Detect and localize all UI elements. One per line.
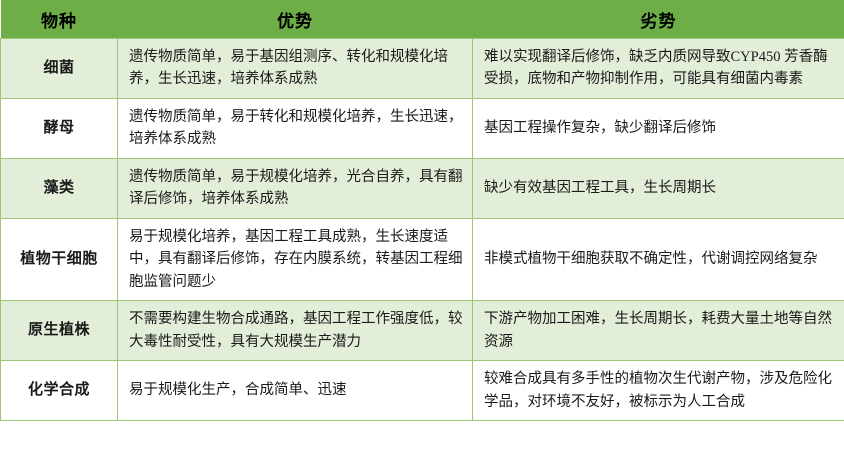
column-header-species: 物种 [1, 0, 118, 39]
table-row: 植物干细胞易于规模化培养，基因工程工具成熟，生长速度适中，具有翻译后修饰，存在内… [1, 218, 844, 300]
column-header-advantage: 优势 [118, 0, 473, 39]
cell-species: 细菌 [1, 39, 118, 99]
cell-disadvantage: 下游产物加工困难，生长周期长，耗费大量土地等自然资源 [473, 301, 844, 361]
cell-species: 藻类 [1, 158, 118, 218]
table-row: 原生植株不需要构建生物合成通路，基因工程工作强度低，较大毒性耐受性，具有大规模生… [1, 301, 844, 361]
table-row: 酵母遗传物质简单，易于转化和规模化培养，生长迅速，培养体系成熟基因工程操作复杂，… [1, 98, 844, 158]
cell-disadvantage: 非模式植物干细胞获取不确定性，代谢调控网络复杂 [473, 218, 844, 300]
cell-disadvantage: 缺少有效基因工程工具，生长周期长 [473, 158, 844, 218]
table-header: 物种 优势 劣势 [1, 0, 844, 39]
table-row: 化学合成易于规模化生产，合成简单、迅速较难合成具有多手性的植物次生代谢产物，涉及… [1, 361, 844, 421]
table-row: 藻类遗传物质简单，易于规模化培养，光合自养，具有翻译后修饰，培养体系成熟缺少有效… [1, 158, 844, 218]
table-header-row: 物种 优势 劣势 [1, 0, 844, 39]
cell-advantage: 易于规模化培养，基因工程工具成熟，生长速度适中，具有翻译后修饰，存在内膜系统，转… [118, 218, 473, 300]
cell-disadvantage: 基因工程操作复杂，缺少翻译后修饰 [473, 98, 844, 158]
comparison-table-container: 物种 优势 劣势 细菌遗传物质简单，易于基因组测序、转化和规模化培养，生长迅速，… [0, 0, 844, 462]
cell-advantage: 遗传物质简单，易于规模化培养，光合自养，具有翻译后修饰，培养体系成熟 [118, 158, 473, 218]
cell-species: 植物干细胞 [1, 218, 118, 300]
cell-disadvantage: 较难合成具有多手性的植物次生代谢产物，涉及危险化学品，对环境不友好，被标示为人工… [473, 361, 844, 421]
cell-advantage: 易于规模化生产，合成简单、迅速 [118, 361, 473, 421]
cell-species: 化学合成 [1, 361, 118, 421]
cell-disadvantage: 难以实现翻译后修饰，缺乏内质网导致CYP450 芳香酶受损，底物和产物抑制作用，… [473, 39, 844, 99]
table-body: 细菌遗传物质简单，易于基因组测序、转化和规模化培养，生长迅速，培养体系成熟难以实… [1, 39, 844, 421]
cell-advantage: 遗传物质简单，易于转化和规模化培养，生长迅速，培养体系成熟 [118, 98, 473, 158]
cell-advantage: 不需要构建生物合成通路，基因工程工作强度低，较大毒性耐受性，具有大规模生产潜力 [118, 301, 473, 361]
species-comparison-table: 物种 优势 劣势 细菌遗传物质简单，易于基因组测序、转化和规模化培养，生长迅速，… [0, 0, 844, 421]
cell-species: 原生植株 [1, 301, 118, 361]
cell-species: 酵母 [1, 98, 118, 158]
cell-advantage: 遗传物质简单，易于基因组测序、转化和规模化培养，生长迅速，培养体系成熟 [118, 39, 473, 99]
column-header-disadvantage: 劣势 [473, 0, 844, 39]
table-row: 细菌遗传物质简单，易于基因组测序、转化和规模化培养，生长迅速，培养体系成熟难以实… [1, 39, 844, 99]
